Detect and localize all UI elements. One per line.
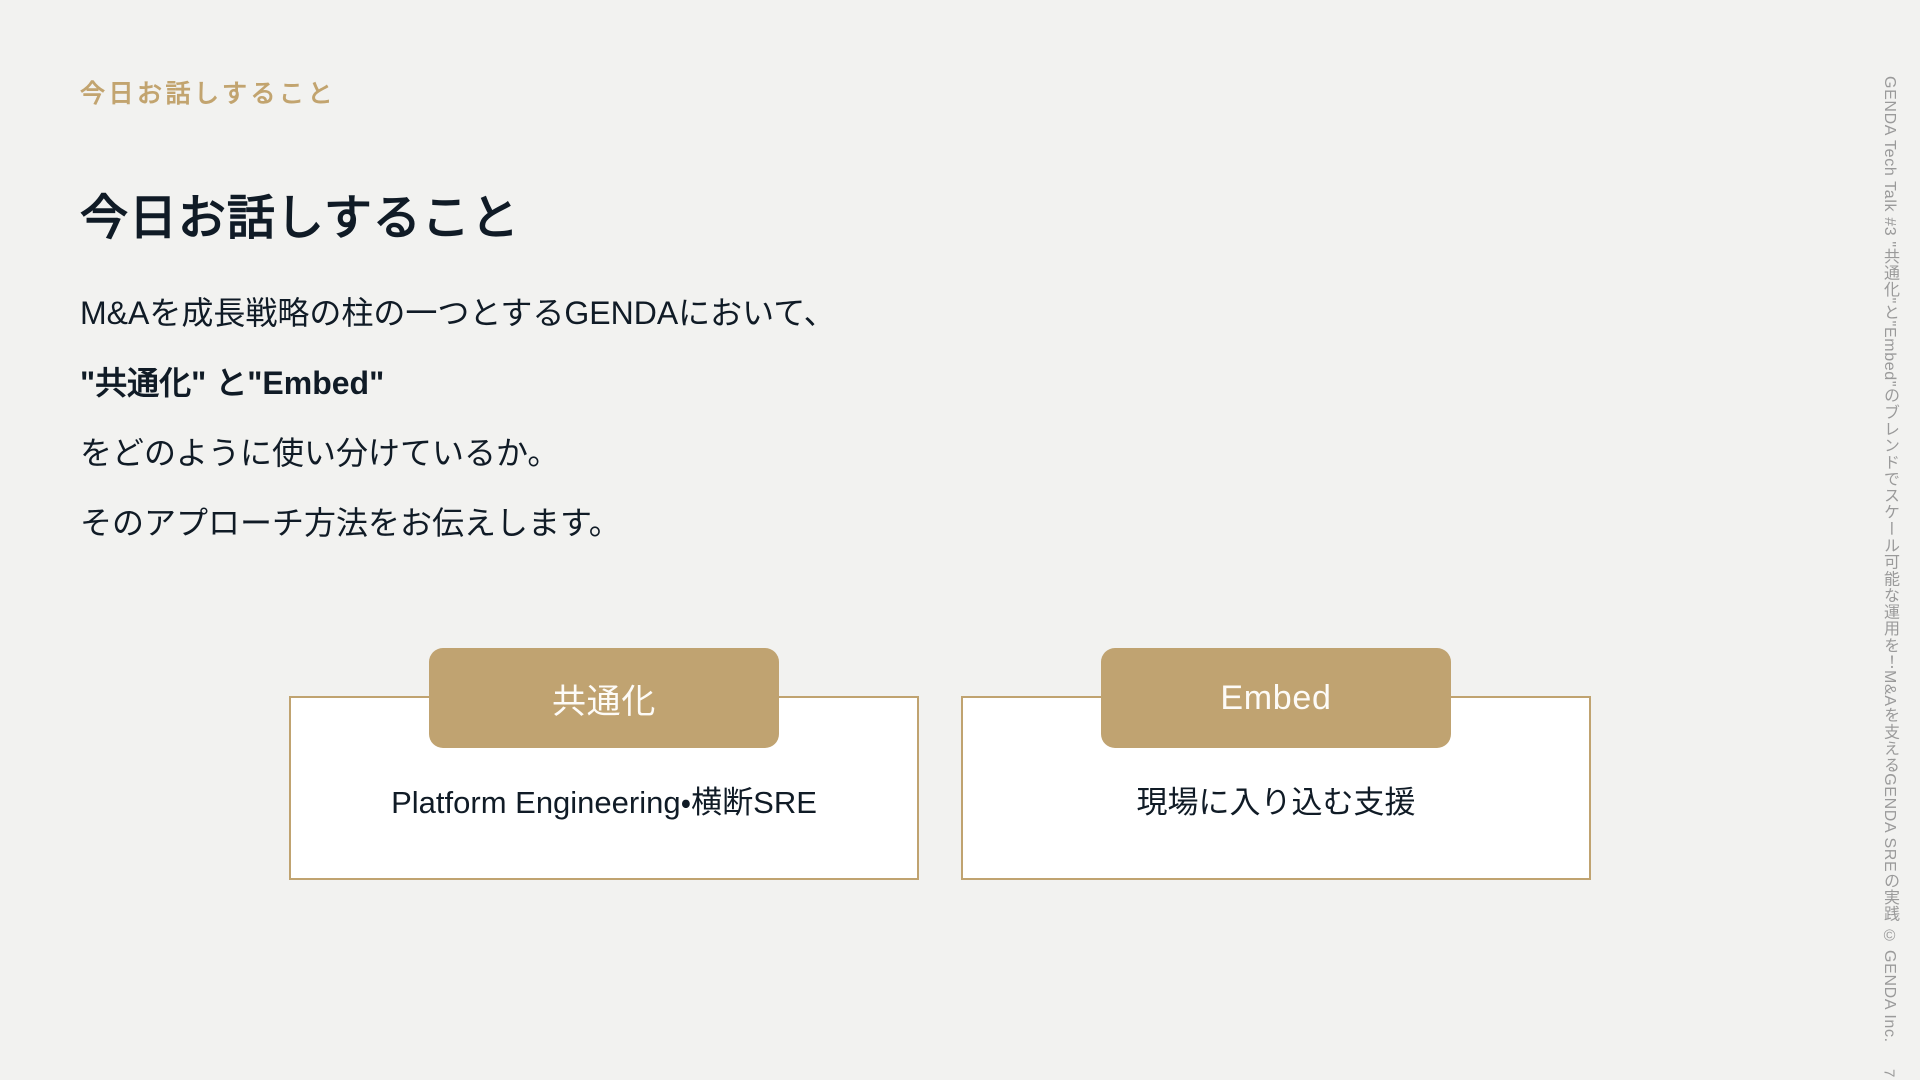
concept-card-group: Platform Engineering・横断SRE 共通化 現場に入り込む支援… bbox=[289, 648, 1591, 880]
body-line: そのアプローチ方法をお伝えします。 bbox=[80, 488, 1080, 558]
body-line: M&Aを成長戦略の柱の一つとするGENDAにおいて、 bbox=[80, 278, 1080, 348]
concept-card-body: Platform Engineering・横断SRE bbox=[391, 777, 817, 822]
concept-card-badge-kyotsuka: 共通化 bbox=[429, 648, 779, 748]
side-rail: GENDA Tech Talk #3 "共通化"と"Embed"のブレンドでスケ… bbox=[1874, 76, 1904, 1006]
side-rail-page-number: 7 bbox=[1881, 1069, 1898, 1078]
slide-eyebrow: 今日お話しすること bbox=[80, 74, 336, 110]
concept-card-badge-label: Embed bbox=[1220, 679, 1331, 718]
concept-card-badge-embed: Embed bbox=[1101, 648, 1451, 748]
slide-canvas: 今日お話しすること 今日お話しすること M&Aを成長戦略の柱の一つとするGEND… bbox=[0, 0, 1920, 1080]
body-paragraph: M&Aを成長戦略の柱の一つとするGENDAにおいて、 "共通化" と"Embed… bbox=[80, 278, 1080, 558]
concept-card-body: 現場に入り込む支援 bbox=[1137, 777, 1416, 822]
body-line-emphasis: "共通化" と"Embed" bbox=[80, 348, 1080, 418]
body-line: をどのように使い分けているか。 bbox=[80, 418, 1080, 488]
side-rail-running-text: GENDA Tech Talk #3 "共通化"と"Embed"のブレンドでスケ… bbox=[1877, 76, 1901, 1043]
concept-card-badge-label: 共通化 bbox=[552, 674, 656, 723]
page-title: 今日お話しすること bbox=[80, 178, 520, 248]
